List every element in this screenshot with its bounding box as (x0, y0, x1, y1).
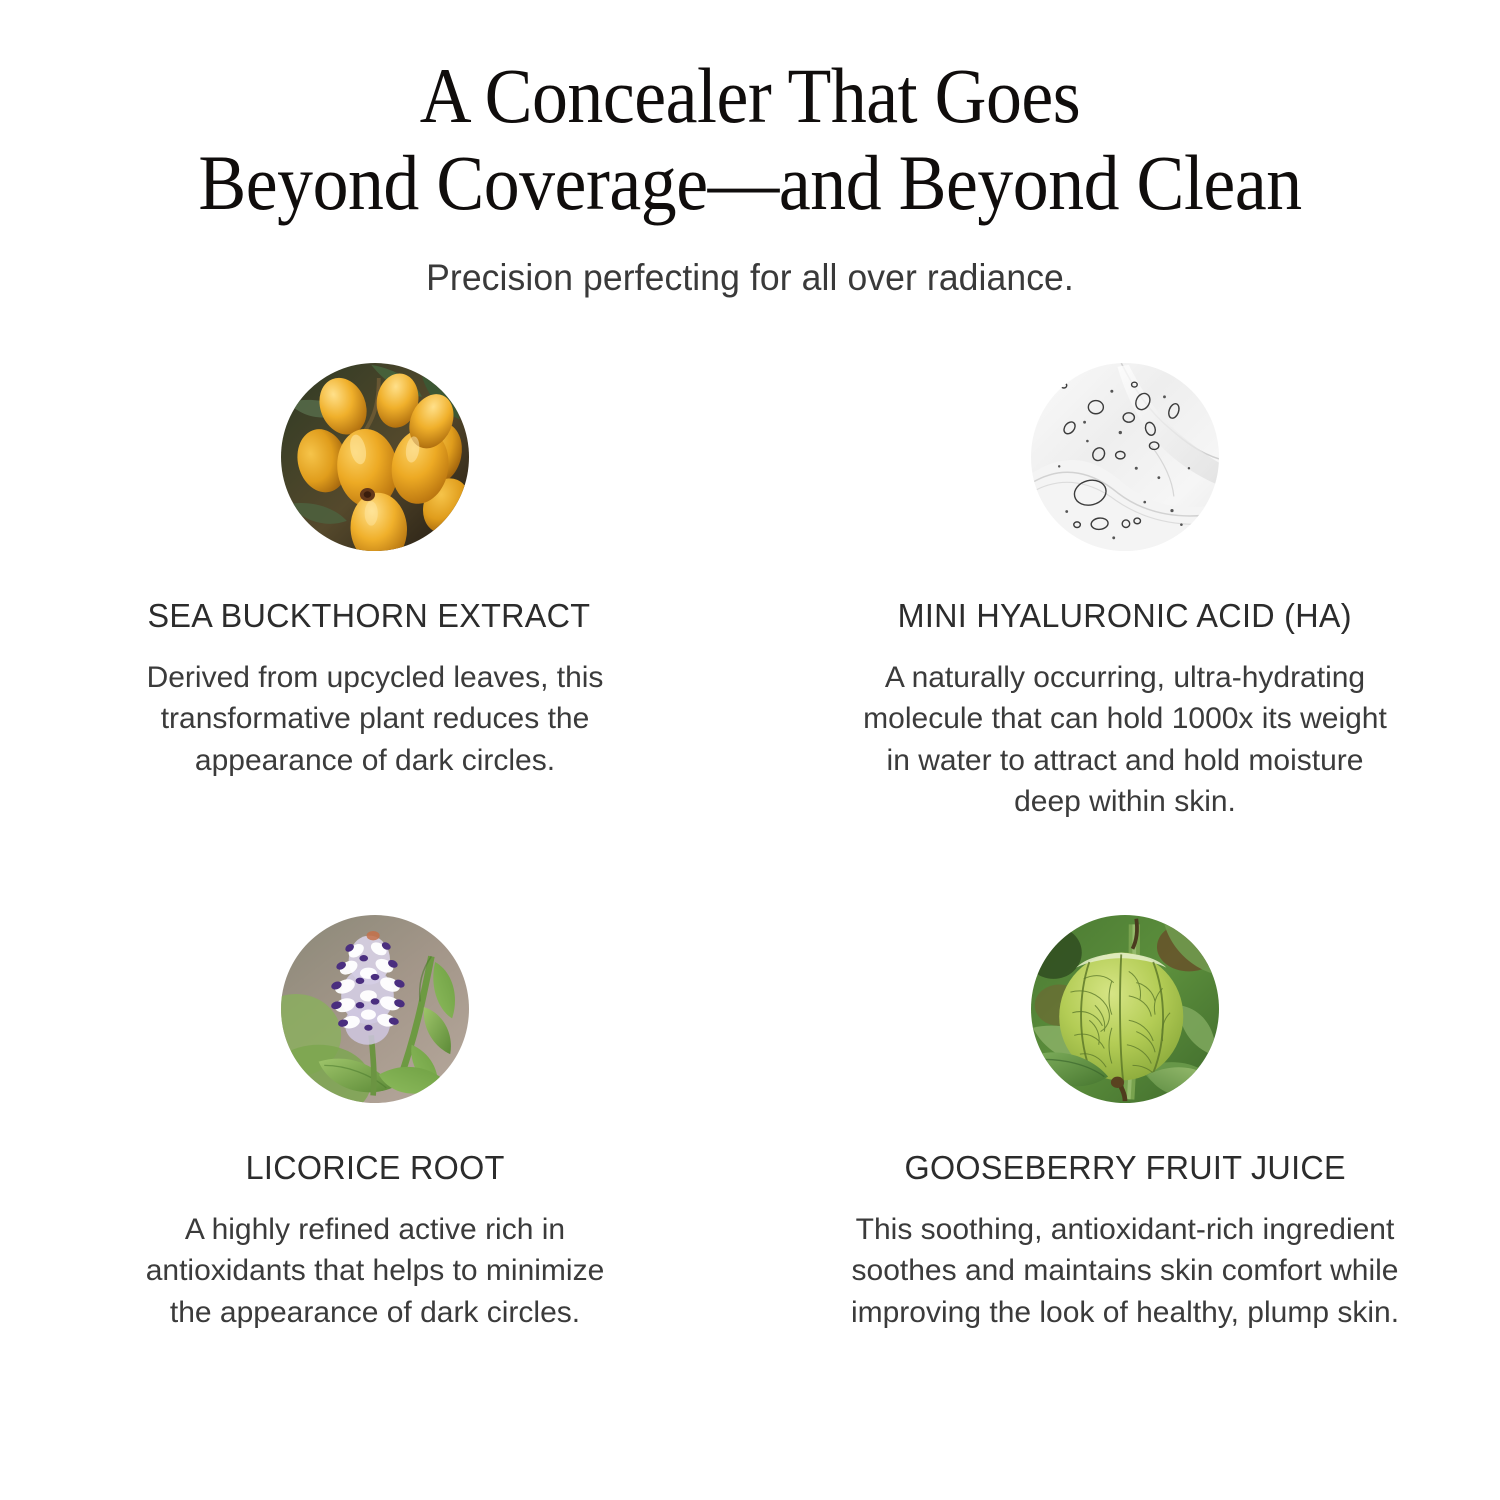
gooseberry-husk-fruit-photo (1031, 915, 1219, 1103)
ingredient-title: SEA BUCKTHORN EXTRACT (148, 597, 591, 635)
headline-line-2: Beyond Coverage—and Beyond Clean (134, 139, 1367, 226)
licorice-root-flower-photo (281, 915, 469, 1103)
ingredient-card-mini-hyaluronic-acid: MINI HYALURONIC ACID (HA) A naturally oc… (750, 363, 1500, 893)
ingredient-title: GOOSEBERRY FRUIT JUICE (904, 1149, 1345, 1187)
ingredient-benefits-page: A Concealer That Goes Beyond Coverage—an… (0, 0, 1500, 1500)
ingredient-description: Derived from upcycled leaves, this trans… (125, 657, 625, 781)
page-header: A Concealer That Goes Beyond Coverage—an… (0, 0, 1500, 299)
ingredient-card-sea-buckthorn-extract: SEA BUCKTHORN EXTRACT Derived from upcyc… (0, 363, 750, 893)
ingredient-title: LICORICE ROOT (246, 1149, 505, 1187)
ingredient-description: A naturally occurring, ultra-hydrating m… (855, 657, 1395, 823)
ingredient-title: MINI HYALURONIC ACID (HA) (898, 597, 1352, 635)
ingredient-card-licorice-root: LICORICE ROOT A highly refined active ri… (0, 893, 750, 1333)
page-subtitle: Precision perfecting for all over radian… (30, 257, 1470, 299)
sea-buckthorn-berries-photo (281, 363, 469, 551)
ingredient-card-gooseberry-fruit-juice: GOOSEBERRY FRUIT JUICE This soothing, an… (750, 893, 1500, 1333)
page-title: A Concealer That Goes Beyond Coverage—an… (134, 52, 1367, 227)
ingredient-grid: SEA BUCKTHORN EXTRACT Derived from upcyc… (0, 363, 1500, 1333)
headline-line-1: A Concealer That Goes (134, 52, 1367, 139)
ingredient-description: A highly refined active rich in antioxid… (125, 1209, 625, 1333)
ingredient-description: This soothing, antioxidant-rich ingredie… (840, 1209, 1410, 1333)
hyaluronic-acid-gel-texture-photo (1031, 363, 1219, 551)
